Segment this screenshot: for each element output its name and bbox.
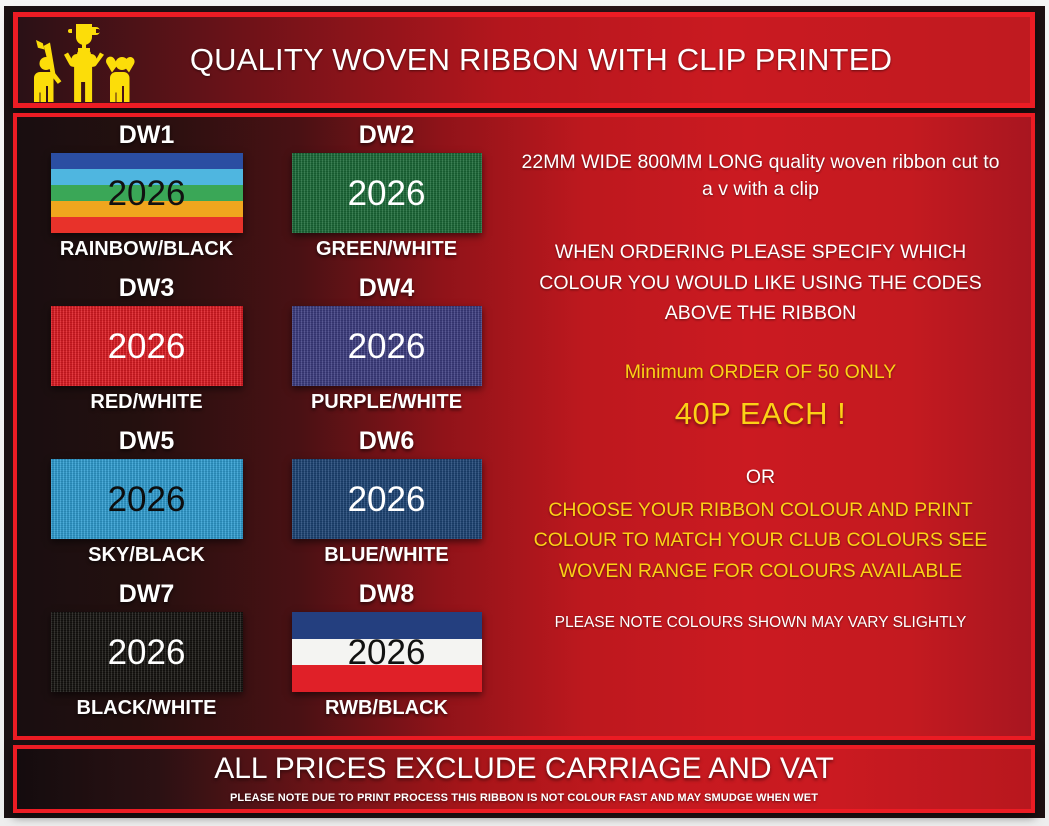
main-panel: DW1 2026 RAINBOW/BLACK bbox=[13, 113, 1035, 740]
stripe-5 bbox=[51, 217, 243, 233]
ribbon-swatch: 2026 bbox=[292, 153, 482, 233]
ribbon-description: RED/WHITE bbox=[90, 392, 202, 412]
ribbon-code: DW1 bbox=[119, 123, 175, 148]
ribbon-description: BLUE/WHITE bbox=[324, 545, 448, 565]
ribbon-year: 2026 bbox=[348, 482, 426, 517]
ribbon-swatch: 2026 bbox=[51, 459, 243, 539]
ribbon-year: 2026 bbox=[108, 482, 186, 517]
info-choose-colour: CHOOSE YOUR RIBBON COLOUR AND PRINT COLO… bbox=[516, 495, 1005, 586]
ribbon-swatch: 2026 bbox=[292, 612, 482, 692]
ribbon-description: RAINBOW/BLACK bbox=[60, 239, 233, 259]
info-intro: 22MM WIDE 800MM LONG quality woven ribbo… bbox=[516, 149, 1005, 203]
ribbon-year: 2026 bbox=[108, 176, 186, 211]
ribbon-code: DW7 bbox=[119, 582, 175, 607]
ribbon-card-dw1[interactable]: DW1 2026 RAINBOW/BLACK bbox=[29, 123, 264, 276]
ribbon-card-dw6[interactable]: DW6 2026 BLUE/WHITE bbox=[274, 429, 499, 582]
ribbon-description: RWB/BLACK bbox=[325, 698, 448, 718]
trophy-celebration-icon bbox=[20, 18, 148, 102]
footer-banner: ALL PRICES EXCLUDE CARRIAGE AND VAT PLEA… bbox=[13, 745, 1035, 813]
ribbon-card-dw7[interactable]: DW7 2026 BLACK/WHITE bbox=[29, 582, 264, 735]
ribbon-code: DW3 bbox=[119, 276, 175, 301]
ribbon-year: 2026 bbox=[348, 635, 426, 670]
ribbon-code: DW2 bbox=[359, 123, 415, 148]
header-banner: QUALITY WOVEN RIBBON WITH CLIP PRINTED bbox=[13, 12, 1035, 108]
ribbon-swatch: 2026 bbox=[292, 306, 482, 386]
ribbon-code: DW6 bbox=[359, 429, 415, 454]
footer-sub-text: PLEASE NOTE DUE TO PRINT PROCESS THIS RI… bbox=[230, 793, 818, 804]
ribbon-code: DW5 bbox=[119, 429, 175, 454]
ribbon-swatch: 2026 bbox=[51, 306, 243, 386]
ribbon-swatch: 2026 bbox=[51, 612, 243, 692]
footer-main-text: ALL PRICES EXCLUDE CARRIAGE AND VAT bbox=[214, 754, 834, 784]
ribbon-swatch-grid: DW1 2026 RAINBOW/BLACK bbox=[17, 117, 502, 736]
ribbon-year: 2026 bbox=[108, 329, 186, 364]
ribbon-swatch: 2026 bbox=[51, 153, 243, 233]
ribbon-card-dw8[interactable]: DW8 2026 RWB/BLACK bbox=[274, 582, 499, 735]
ribbon-card-dw3[interactable]: DW3 2026 RED/WHITE bbox=[29, 276, 264, 429]
ribbon-code: DW8 bbox=[359, 582, 415, 607]
ribbon-code: DW4 bbox=[359, 276, 415, 301]
product-info-panel: 22MM WIDE 800MM LONG quality woven ribbo… bbox=[502, 117, 1031, 736]
info-ordering: WHEN ORDERING PLEASE SPECIFY WHICH COLOU… bbox=[516, 237, 1005, 329]
ribbon-year: 2026 bbox=[348, 176, 426, 211]
ribbon-description: GREEN/WHITE bbox=[316, 239, 457, 259]
ribbon-card-dw2[interactable]: DW2 2026 GREEN/WHITE bbox=[274, 123, 499, 276]
info-minimum: Minimum ORDER OF 50 ONLY bbox=[516, 361, 1005, 384]
poster-root: QUALITY WOVEN RIBBON WITH CLIP PRINTED D… bbox=[0, 0, 1049, 826]
ribbon-card-dw4[interactable]: DW4 2026 PURPLE/WHITE bbox=[274, 276, 499, 429]
page-title: QUALITY WOVEN RIBBON WITH CLIP PRINTED bbox=[148, 42, 1030, 78]
info-vary-note: PLEASE NOTE COLOURS SHOWN MAY VARY SLIGH… bbox=[516, 614, 1005, 632]
ribbon-description: BLACK/WHITE bbox=[77, 698, 217, 718]
ribbon-year: 2026 bbox=[348, 329, 426, 364]
ribbon-description: PURPLE/WHITE bbox=[311, 392, 462, 412]
ribbon-year: 2026 bbox=[108, 635, 186, 670]
stripe-1 bbox=[51, 153, 243, 169]
info-price: 40P EACH ! bbox=[516, 396, 1005, 432]
ribbon-card-dw5[interactable]: DW5 2026 SKY/BLACK bbox=[29, 429, 264, 582]
ribbon-swatch: 2026 bbox=[292, 459, 482, 539]
info-or: OR bbox=[516, 466, 1005, 489]
ribbon-description: SKY/BLACK bbox=[88, 545, 205, 565]
